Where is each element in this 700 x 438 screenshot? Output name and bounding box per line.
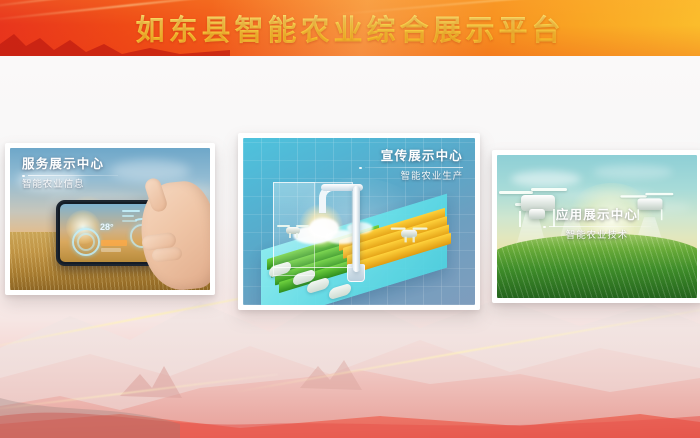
divider-dot-icon [543,226,546,229]
card-service-image: 28° 服务展示中心 智能农业信息 [10,148,210,290]
card-service-caption: 服务展示中心 智能农业信息 [22,158,118,190]
cloud-shape [593,165,673,179]
hud-temperature-readout: 28° [100,222,114,232]
drone-leg [296,233,298,238]
hud-bar [122,210,140,212]
cloud-shape [511,171,581,187]
page-title: 如东县智能农业综合展示平台 [0,0,700,56]
card-promotion-display-center[interactable]: 宣传展示中心 智能农业生产 [238,133,480,310]
divider-line [549,226,652,227]
caption-divider [497,226,697,229]
display-platform-page: 如东县智能农业综合展示平台 28° [0,0,700,438]
drone-blade [645,193,673,195]
drone-blade [620,195,647,197]
drone-blade [531,188,567,191]
drone-leg [289,233,291,238]
drone-blade [499,191,533,194]
cloud-shape [347,222,373,234]
card-service-display-center[interactable]: 28° 服务展示中心 智能农业信息 [5,143,215,295]
card-promotion-subtitle: 智能农业生产 [359,172,463,182]
caption-divider [359,167,463,170]
card-service-title: 服务展示中心 [22,158,118,171]
card-application-caption: 应用展示中心 智能农业技术 [497,209,697,241]
card-application-image: 应用展示中心 智能农业技术 [497,155,697,298]
divider-line [365,167,464,168]
card-promotion-caption: 宣传展示中心 智能农业生产 [359,150,463,182]
hud-chip [101,248,121,252]
header-banner: 如东县智能农业综合展示平台 [0,0,700,56]
card-application-display-center[interactable]: 应用展示中心 智能农业技术 [492,150,700,303]
green-crop-field [497,234,697,298]
card-promotion-image: 宣传展示中心 智能农业生产 [243,138,475,305]
drone-leg [405,237,407,243]
card-application-subtitle: 智能农业技术 [497,231,697,241]
hud-chip [101,240,127,246]
hud-bar [122,220,137,222]
lamp-pole [353,186,360,272]
divider-line [28,175,119,176]
card-promotion-title: 宣传展示中心 [359,150,463,163]
hud-bar [122,215,134,217]
caption-divider [22,175,118,178]
divider-dot-icon [359,167,362,170]
card-service-subtitle: 智能农业信息 [22,180,118,190]
card-application-title: 应用展示中心 [497,209,697,222]
divider-dot-icon [22,175,25,178]
hud-ring-inner-icon [77,233,95,251]
drone-leg [413,237,415,243]
